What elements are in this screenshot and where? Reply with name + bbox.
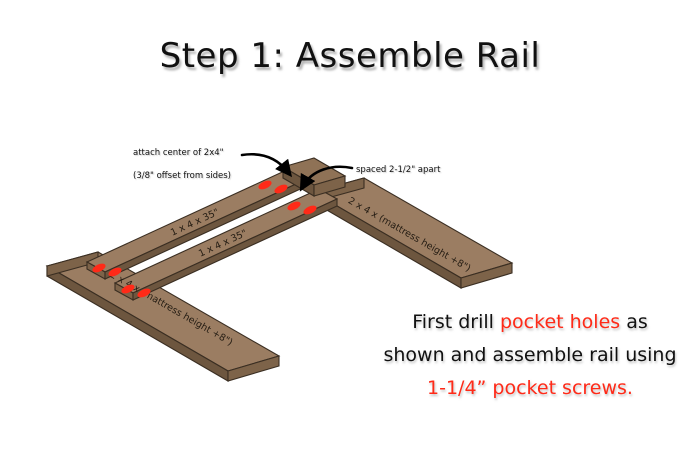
annotation-attach-center-line1: attach center of 2x4" bbox=[133, 148, 224, 158]
annotation-attach-center-line2: (3/8" offset from sides) bbox=[133, 171, 231, 181]
caption-highlight-pocket-holes: pocket holes bbox=[500, 311, 620, 333]
leader-arrow-attach-center bbox=[242, 154, 288, 172]
caption-line1-post: as bbox=[620, 311, 648, 333]
caption-line-1: First drill pocket holes as bbox=[380, 306, 680, 339]
caption-highlight-screws: 1-1/4” pocket screws. bbox=[427, 377, 633, 399]
diagram-page: Step 1: Assemble Rail bbox=[0, 0, 700, 466]
annotation-spacing: spaced 2-1/2" apart bbox=[356, 165, 440, 175]
caption-line-2: shown and assemble rail using bbox=[380, 339, 680, 372]
caption-line1-pre: First drill bbox=[412, 311, 500, 333]
instruction-caption: First drill pocket holes as shown and as… bbox=[380, 306, 680, 405]
caption-line-3: 1-1/4” pocket screws. bbox=[380, 372, 680, 405]
